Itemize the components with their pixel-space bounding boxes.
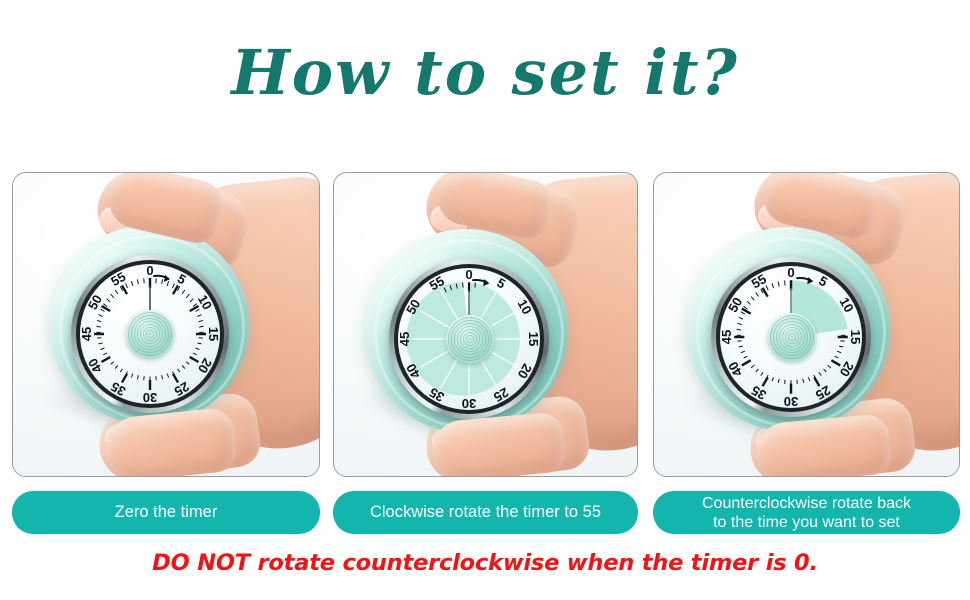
dial-number-5: 5 — [494, 275, 508, 292]
dial-number-45: 45 — [80, 327, 94, 341]
caption-text-block: Counterclockwise rotate back to the time… — [702, 494, 911, 532]
photo-panel-clockwise-55: 0 5 10 15 20 25 30 35 40 45 50 55 — [333, 172, 638, 477]
photo-panel-zero-the-timer: 0 5 10 15 20 25 30 35 40 45 50 55 — [12, 172, 320, 477]
caption-counterclockwise-back: Counterclockwise rotate back to the time… — [653, 491, 960, 534]
caption-row: Zero the timer Clockwise rotate the time… — [12, 491, 960, 534]
knob-rings — [446, 315, 494, 363]
product-photo-1: 0 5 10 15 20 25 30 35 40 45 50 55 — [13, 173, 319, 476]
timer-knob[interactable] — [446, 315, 494, 363]
caption-line-1: Counterclockwise rotate back — [702, 494, 911, 513]
dial-number-15: 15 — [848, 330, 862, 345]
dial-number-15: 15 — [206, 327, 220, 341]
panel-row: 0 5 10 15 20 25 30 35 40 45 50 55 — [12, 172, 960, 477]
dial-number-15: 15 — [526, 332, 540, 347]
dial-number-5: 5 — [816, 273, 830, 290]
dial-number-0: 0 — [465, 268, 472, 282]
caption-text: Zero the timer — [115, 503, 218, 522]
caption-clockwise-55: Clockwise rotate the timer to 55 — [333, 491, 638, 534]
knob-rings — [768, 313, 816, 361]
timer-knob[interactable] — [768, 313, 816, 361]
dial-number-0: 0 — [787, 266, 794, 280]
dial-number-30: 30 — [784, 394, 799, 408]
caption-zero-the-timer: Zero the timer — [12, 491, 320, 534]
dial-number-30: 30 — [462, 396, 477, 410]
page-title: How to set it? — [0, 42, 970, 104]
caption-text: Clockwise rotate the timer to 55 — [370, 503, 601, 522]
timer-knob[interactable] — [126, 310, 174, 358]
how-to-set-infographic: How to set it? — [0, 0, 970, 600]
product-photo-2: 0 5 10 15 20 25 30 35 40 45 50 55 — [334, 173, 637, 476]
dial-number-0: 0 — [146, 264, 153, 278]
warning-text: DO NOT rotate counterclockwise when the … — [0, 550, 970, 576]
knob-rings — [126, 310, 174, 358]
dial-number-30: 30 — [143, 390, 157, 404]
dial-number-45: 45 — [720, 330, 734, 345]
photo-panel-counterclockwise-back: 0 5 10 15 20 25 30 35 40 45 50 55 — [653, 172, 960, 477]
product-photo-3: 0 5 10 15 20 25 30 35 40 45 50 55 — [654, 173, 959, 476]
caption-line-2: to the time you want to set — [702, 513, 911, 532]
dial-number-45: 45 — [398, 332, 412, 347]
